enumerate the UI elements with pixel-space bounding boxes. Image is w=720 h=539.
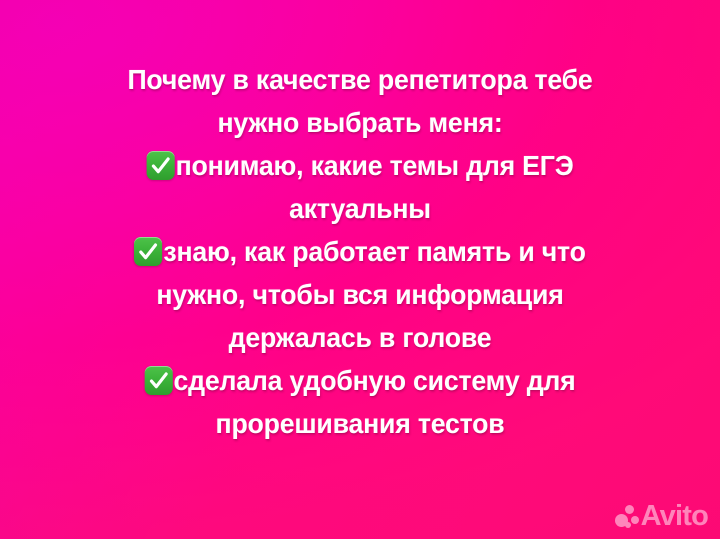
promo-text-line: понимаю, какие темы для ЕГЭ bbox=[11, 144, 709, 187]
check-mark-icon bbox=[134, 237, 162, 266]
promo-text-line: прорешивания тестов bbox=[11, 402, 709, 445]
avito-logo-dot-top bbox=[625, 505, 634, 514]
promo-text-line-label: актуальны bbox=[289, 193, 431, 224]
promo-text-line-label: Почему в качестве репетитора тебе bbox=[127, 64, 592, 95]
check-mark-icon bbox=[144, 366, 172, 395]
promo-text-line-label: нужно выбрать меня: bbox=[217, 107, 502, 138]
promo-text-line-label: понимаю, какие темы для ЕГЭ bbox=[176, 150, 574, 181]
avito-watermark: Avito bbox=[615, 502, 708, 531]
promo-text-line-label: нужно, чтобы вся информация bbox=[156, 279, 563, 310]
avito-watermark-label: Avito bbox=[641, 502, 708, 531]
poster-content: Почему в качестве репетитора тебенужно в… bbox=[0, 0, 720, 539]
promo-text-line-label: знаю, как работает память и что bbox=[163, 236, 585, 267]
check-mark-icon bbox=[146, 151, 174, 180]
advertisement-poster: Почему в качестве репетитора тебенужно в… bbox=[0, 0, 720, 539]
promo-text-line-label: держалась в голове bbox=[229, 322, 492, 353]
promo-text-line-label: сделала удобную систему для bbox=[174, 365, 576, 396]
promo-text-line: нужно выбрать меня: bbox=[11, 101, 709, 144]
promo-text-line-label: прорешивания тестов bbox=[216, 408, 505, 439]
avito-logo-dot-right bbox=[631, 516, 639, 524]
promo-text-line: держалась в голове bbox=[11, 316, 709, 359]
promo-text-line: сделала удобную систему для bbox=[11, 359, 709, 402]
promo-text-line: знаю, как работает память и что bbox=[11, 230, 709, 273]
promo-text-line: актуальны bbox=[11, 187, 709, 230]
promo-text-block: Почему в качестве репетитора тебенужно в… bbox=[0, 58, 720, 445]
promo-text-line: нужно, чтобы вся информация bbox=[11, 273, 709, 316]
avito-logo-dot-small bbox=[625, 522, 631, 528]
avito-logo-icon bbox=[615, 503, 640, 530]
promo-text-line: Почему в качестве репетитора тебе bbox=[11, 58, 709, 101]
